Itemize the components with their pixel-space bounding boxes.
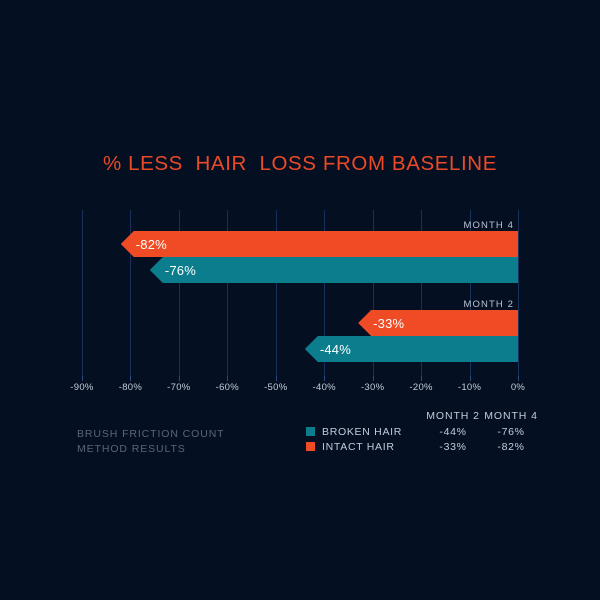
legend-label: BROKEN HAIR (322, 426, 402, 438)
axis-tick (421, 376, 422, 381)
axis-tick-label: -90% (70, 382, 93, 393)
gridline (518, 210, 519, 376)
footnote-line-1: BRUSH FRICTION COUNT (77, 427, 225, 442)
legend-row[interactable]: BROKEN HAIR-44%-76% (306, 425, 540, 440)
axis-tick-label: -30% (361, 382, 384, 393)
axis-tick-label: -70% (167, 382, 190, 393)
legend-table: MONTH 2 MONTH 4 BROKEN HAIR-44%-76%INTAC… (306, 410, 540, 455)
bar-value-label: -33% (358, 316, 404, 331)
legend-series-name: INTACT HAIR (306, 440, 424, 455)
axis-tick (276, 376, 277, 381)
axis-tick (227, 376, 228, 381)
axis-tick (470, 376, 471, 381)
legend-header-month2: MONTH 2 (424, 410, 482, 425)
bar-broken-hair-month-2[interactable]: -44% (305, 336, 518, 362)
legend-header-month4: MONTH 4 (482, 410, 540, 425)
chart-title: % LESS HAIR LOSS FROM BASELINE (0, 152, 600, 176)
x-axis: -90%-80%-70%-60%-50%-40%-30%-20%-10%0% (82, 376, 518, 396)
axis-tick (130, 376, 131, 381)
bar-broken-hair-month-4[interactable]: -76% (150, 257, 518, 283)
legend-label: INTACT HAIR (322, 441, 395, 453)
gridline (82, 210, 83, 376)
legend-header-spacer (306, 410, 424, 425)
bar-shape (121, 231, 518, 257)
axis-tick (373, 376, 374, 381)
footnote: BRUSH FRICTION COUNT METHOD RESULTS (77, 427, 225, 457)
axis-tick-label: -20% (409, 382, 432, 393)
bar-value-label: -44% (305, 342, 351, 357)
plot-area: MONTH 4MONTH 2 -82%-76%-33%-44% (82, 210, 518, 376)
legend-value-month2: -33% (424, 440, 482, 455)
bar-intact-hair-month-4[interactable]: -82% (121, 231, 518, 257)
legend-value-month4: -76% (482, 425, 540, 440)
footnote-line-2: METHOD RESULTS (77, 442, 225, 457)
axis-tick-label: -50% (264, 382, 287, 393)
axis-tick (324, 376, 325, 381)
group-label-month-4: MONTH 4 (464, 220, 514, 231)
bar-value-label: -82% (121, 237, 167, 252)
legend-series-name: BROKEN HAIR (306, 425, 424, 440)
axis-tick (82, 376, 83, 381)
axis-tick-label: -40% (313, 382, 336, 393)
bar-intact-hair-month-2[interactable]: -33% (358, 310, 518, 336)
legend-body: BROKEN HAIR-44%-76%INTACT HAIR-33%-82% (306, 425, 540, 455)
legend-value-month2: -44% (424, 425, 482, 440)
axis-tick-label: -60% (216, 382, 239, 393)
legend-value-month4: -82% (482, 440, 540, 455)
axis-tick (179, 376, 180, 381)
legend-row[interactable]: INTACT HAIR-33%-82% (306, 440, 540, 455)
group-label-month-2: MONTH 2 (464, 299, 514, 310)
axis-tick (518, 376, 519, 381)
legend-header-row: MONTH 2 MONTH 4 (306, 410, 540, 425)
legend: MONTH 2 MONTH 4 BROKEN HAIR-44%-76%INTAC… (306, 410, 540, 455)
legend-swatch-icon (306, 442, 315, 451)
axis-tick-label: -80% (119, 382, 142, 393)
bar-value-label: -76% (150, 263, 196, 278)
legend-swatch-icon (306, 427, 315, 436)
axis-tick-label: -10% (458, 382, 481, 393)
axis-tick-label: 0% (511, 382, 525, 393)
chart-canvas: % LESS HAIR LOSS FROM BASELINE MONTH 4MO… (0, 0, 600, 600)
bar-shape (150, 257, 518, 283)
